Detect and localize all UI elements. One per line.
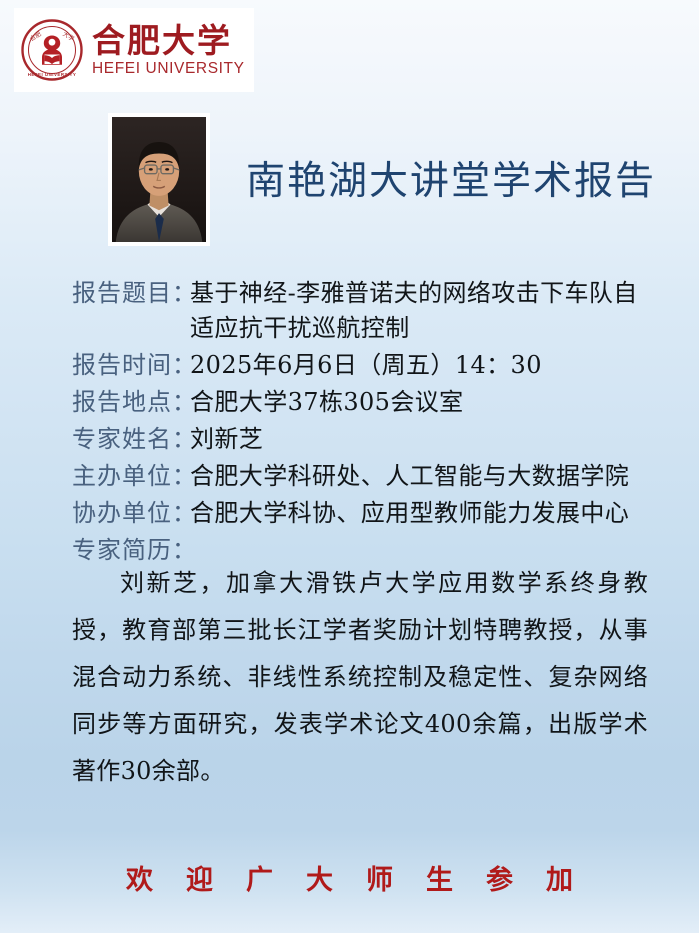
- biography-paragraph: 刘新芝，加拿大滑铁卢大学应用数学系终身教授，教育部第三批长江学者奖励计划特聘教授…: [72, 560, 648, 795]
- poster-canvas: HEFEI UNIVERSITY 合肥 大学 合肥大学 HEFEI UNIVER…: [0, 0, 699, 933]
- logo-name-cn: 合肥大学: [92, 24, 245, 57]
- info-label-co-organizer: 协办单位：: [72, 496, 190, 531]
- info-row-time: 报告时间： 2025年6月6日（周五）14：30: [72, 348, 662, 383]
- info-row-co-organizer: 协办单位： 合肥大学科协、应用型教师能力发展中心: [72, 496, 662, 531]
- university-logo: HEFEI UNIVERSITY 合肥 大学 合肥大学 HEFEI UNIVER…: [14, 8, 254, 92]
- info-label-location: 报告地点：: [72, 385, 190, 420]
- info-value-topic: 基于神经-李雅普诺夫的网络攻击下车队自适应抗干扰巡航控制: [190, 276, 662, 346]
- info-value-organizer: 合肥大学科研处、人工智能与大数据学院: [190, 459, 662, 494]
- info-list: 报告题目： 基于神经-李雅普诺夫的网络攻击下车队自适应抗干扰巡航控制 报告时间：…: [72, 276, 662, 570]
- portrait-image: [112, 117, 206, 242]
- welcome-footer: 欢迎广大师生参加: [0, 858, 699, 897]
- info-value-speaker: 刘新芝: [190, 422, 662, 457]
- page-title: 南艳湖大讲堂学术报告: [246, 150, 656, 206]
- info-row-speaker: 专家姓名： 刘新芝: [72, 422, 662, 457]
- info-row-topic: 报告题目： 基于神经-李雅普诺夫的网络攻击下车队自适应抗干扰巡航控制: [72, 276, 662, 346]
- info-label-time: 报告时间：: [72, 348, 190, 383]
- info-value-time: 2025年6月6日（周五）14：30: [190, 348, 662, 383]
- info-label-topic: 报告题目：: [72, 276, 190, 311]
- info-value-location: 合肥大学37栋305会议室: [190, 385, 662, 420]
- logo-name-en: HEFEI UNIVERSITY: [92, 61, 245, 77]
- info-row-organizer: 主办单位： 合肥大学科研处、人工智能与大数据学院: [72, 459, 662, 494]
- svg-text:HEFEI UNIVERSITY: HEFEI UNIVERSITY: [28, 72, 77, 77]
- logo-wordmark: 合肥大学 HEFEI UNIVERSITY: [92, 24, 245, 77]
- info-row-location: 报告地点： 合肥大学37栋305会议室: [72, 385, 662, 420]
- info-label-speaker: 专家姓名：: [72, 422, 190, 457]
- hefei-university-seal-icon: HEFEI UNIVERSITY 合肥 大学: [20, 18, 84, 82]
- info-label-organizer: 主办单位：: [72, 459, 190, 494]
- speaker-portrait: [108, 113, 210, 246]
- info-value-co-organizer: 合肥大学科协、应用型教师能力发展中心: [190, 496, 662, 531]
